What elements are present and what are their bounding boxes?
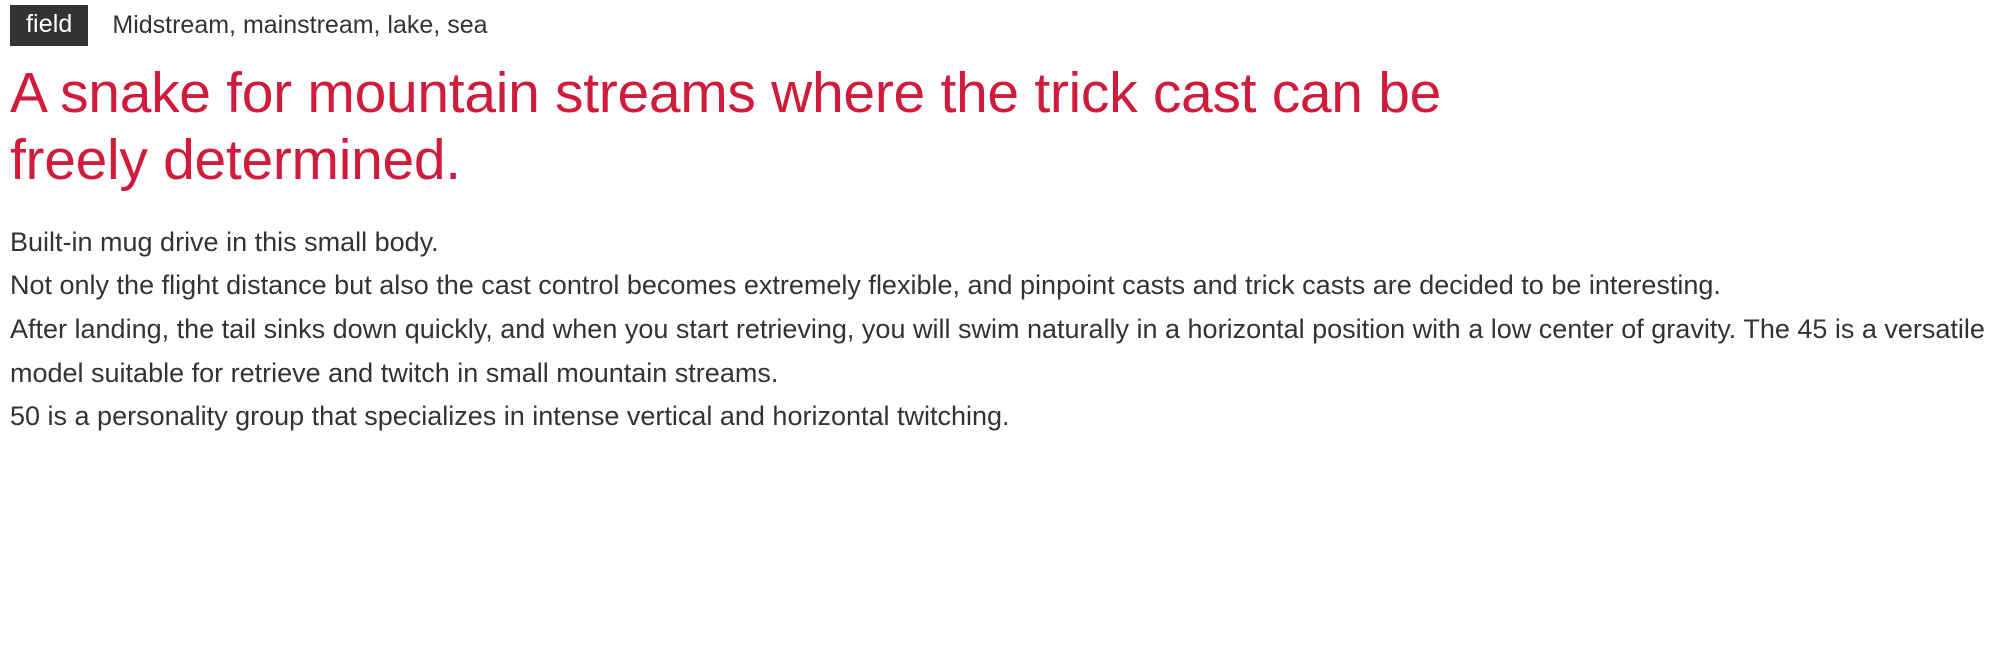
field-value: Midstream, mainstream, lake, sea	[112, 13, 487, 38]
description-paragraph: 50 is a personality group that specializ…	[10, 395, 1990, 439]
product-description-page: field Midstream, mainstream, lake, sea A…	[0, 0, 2000, 646]
page-title: A snake for mountain streams where the t…	[10, 38, 1530, 195]
description-paragraph: Built-in mug drive in this small body.	[10, 221, 1990, 265]
field-row: field Midstream, mainstream, lake, sea	[10, 0, 1990, 38]
description-body: Built-in mug drive in this small body. N…	[10, 195, 1990, 440]
field-badge: field	[10, 5, 88, 46]
description-paragraph: After landing, the tail sinks down quick…	[10, 308, 1990, 395]
description-paragraph: Not only the flight distance but also th…	[10, 264, 1990, 308]
